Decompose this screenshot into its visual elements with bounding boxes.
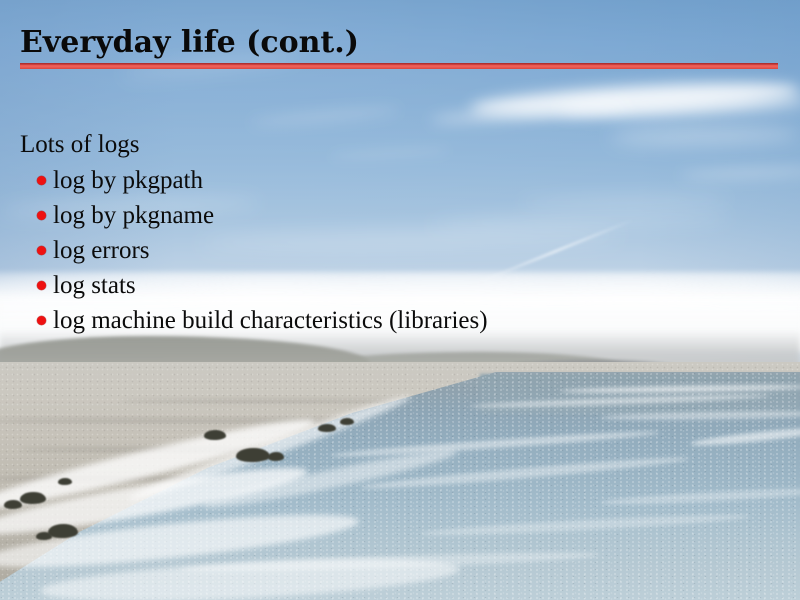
rock-clump	[20, 492, 46, 504]
tide-mark	[120, 399, 420, 403]
body-lead-text: Lots of logs	[20, 128, 780, 162]
list-item: log stats	[20, 268, 780, 303]
list-item: log errors	[20, 233, 780, 268]
list-item-label: log errors	[53, 237, 150, 264]
bullet-dot-icon	[37, 176, 46, 185]
list-item-label: log machine build characteristics (libra…	[53, 307, 488, 334]
rock-clump	[340, 418, 354, 425]
slide: Everyday life (cont.) Lots of logs log b…	[0, 0, 800, 600]
bullet-dot-icon	[37, 246, 46, 255]
bullet-dot-icon	[37, 281, 46, 290]
bullet-list: log by pkgpath log by pkgname log errors…	[20, 163, 780, 338]
rock-clump	[36, 532, 52, 540]
slide-body: Lots of logs log by pkgpath log by pkgna…	[20, 128, 780, 338]
bullet-dot-icon	[37, 316, 46, 325]
list-item: log by pkgname	[20, 198, 780, 233]
list-item-label: log by pkgname	[53, 202, 214, 229]
list-item-label: log stats	[53, 272, 136, 299]
bullet-dot-icon	[37, 211, 46, 220]
list-item-label: log by pkgpath	[53, 167, 203, 194]
slide-title: Everyday life (cont.)	[20, 24, 359, 62]
list-item: log machine build characteristics (libra…	[20, 303, 780, 338]
rock-clump	[204, 430, 226, 440]
title-underline-rule	[20, 63, 778, 69]
rock-clump	[318, 424, 336, 432]
list-item: log by pkgpath	[20, 163, 780, 198]
rock-clump	[236, 448, 270, 462]
rock-clump	[58, 478, 72, 485]
rock-clump	[4, 500, 22, 509]
rock-clump	[48, 524, 78, 538]
rock-clump	[268, 452, 284, 461]
